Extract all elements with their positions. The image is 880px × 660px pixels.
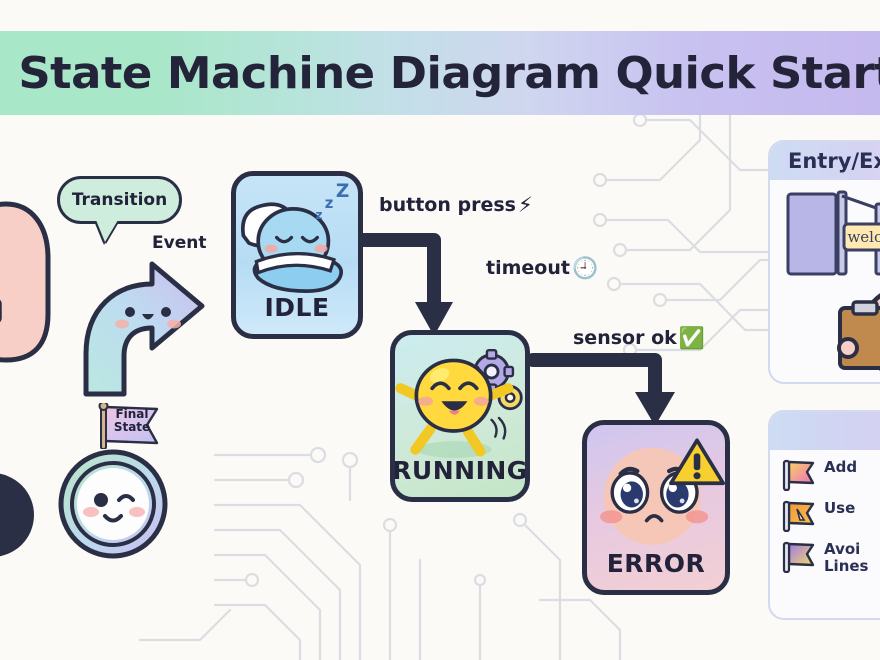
state-node-error[interactable]: ERROR [582, 420, 730, 595]
clipboard-character [822, 278, 880, 384]
flag-icon [780, 459, 816, 491]
final-state-flag-label: Final State [108, 408, 156, 434]
transition-label-timeout: timeout 🕘 [486, 257, 598, 279]
transition-callout-label: Transition [72, 190, 167, 210]
state-label-idle: IDLE [264, 293, 329, 322]
final-state-symbol [57, 448, 169, 560]
door-welcome-illustration: welcome [786, 188, 880, 278]
svg-text:z: z [315, 208, 322, 222]
panel-pro-tips[interactable]: Pro Add Use [768, 410, 880, 620]
transition-text: timeout [486, 257, 570, 279]
transition-text: sensor ok [573, 327, 677, 349]
svg-text:Z: Z [336, 181, 349, 202]
transition-label-sensor-ok: sensor ok ✅ [573, 327, 705, 349]
door-sign-text: welcome [847, 228, 880, 246]
state-node-idle[interactable]: z z Z IDLE [231, 171, 363, 339]
check-mark-icon: ✅ [679, 328, 705, 349]
flag-icon [780, 500, 816, 532]
list-item-label: Use [824, 500, 855, 517]
list-item-label-line2: Lines [824, 558, 868, 575]
transition-callout: Transition [57, 176, 182, 224]
list-item-label-group: Avoi Lines [824, 541, 868, 575]
left-helper-character [0, 196, 54, 366]
svg-text:z: z [325, 195, 334, 212]
panel-entry-exit-title: Entry/Exit A [770, 142, 880, 180]
initial-state-symbol [0, 470, 46, 560]
event-curved-arrow [66, 258, 211, 398]
diagram-canvas: State Machine Diagram Quick Start Transi… [0, 0, 880, 660]
page-title: State Machine Diagram Quick Start [0, 48, 880, 99]
list-item-label-line1: Avoi [824, 541, 868, 558]
list-item[interactable]: Use [770, 491, 880, 532]
transition-label-button-press: button press ⚡ [379, 194, 533, 216]
panel-pro-tips-title: Pro [770, 412, 880, 450]
header-banner: State Machine Diagram Quick Start [0, 31, 880, 115]
flag-icon [780, 541, 816, 573]
arrow-running-to-error [533, 360, 655, 404]
state-label-running: RUNNING [392, 456, 528, 485]
list-item-label: Add [824, 459, 857, 476]
lightning-icon: ⚡ [518, 195, 533, 216]
state-label-error: ERROR [607, 549, 706, 578]
clock-icon: 🕘 [572, 258, 598, 279]
panel-entry-exit[interactable]: Entry/Exit A welcome [768, 140, 880, 384]
transition-callout-tail [96, 220, 118, 242]
arrow-idle-to-running [363, 240, 434, 312]
transition-text: button press [379, 194, 516, 216]
event-label: Event [152, 233, 206, 253]
state-node-running[interactable]: RUNNING [390, 330, 530, 502]
list-item[interactable]: Add [770, 450, 880, 491]
list-item[interactable]: Avoi Lines [770, 532, 880, 575]
